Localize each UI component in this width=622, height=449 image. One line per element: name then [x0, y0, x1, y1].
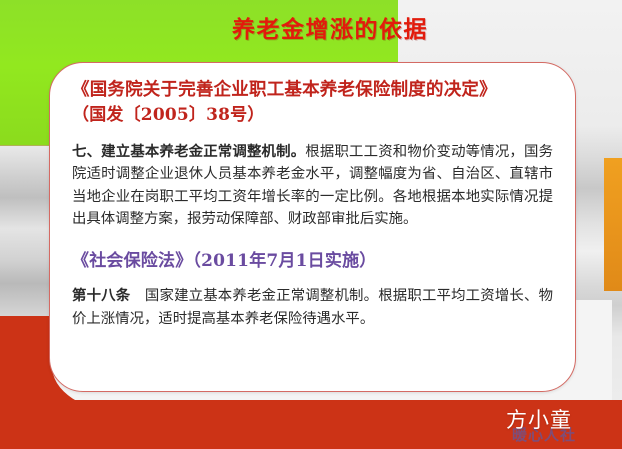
watermark-author-name: 方小童 — [506, 404, 572, 434]
regulation-title-main: 《国务院关于完善企业职工基本养老保险制度的决定》 — [72, 80, 497, 100]
page-title: 养老金增涨的依据 — [180, 10, 480, 44]
background-orange-accent-bar — [604, 158, 622, 291]
slide-root: 养老金增涨的依据 《国务院关于完善企业职工基本养老保险制度的决定》 （国发〔20… — [0, 0, 622, 449]
regulation-paragraph: 七、建立基本养老金正常调整机制。根据职工工资和物价变动等情况，国务院适时调整企业… — [72, 141, 553, 231]
regulation-paragraph-lead: 七、建立基本养老金正常调整机制。 — [72, 143, 305, 160]
regulation-title-heading: 《国务院关于完善企业职工基本养老保险制度的决定》 （国发〔2005〕38号） — [72, 79, 553, 127]
law-article-number: 第十八条 — [72, 287, 130, 304]
social-insurance-law-heading: 《社会保险法》（2011年7月1日实施） — [72, 246, 553, 271]
regulation-document-number: （国发〔2005〕38号） — [72, 104, 553, 127]
content-card-inner: 《国务院关于完善企业职工基本养老保险制度的决定》 （国发〔2005〕38号） 七… — [50, 63, 575, 340]
content-card: 《国务院关于完善企业职工基本养老保险制度的决定》 （国发〔2005〕38号） 七… — [49, 62, 576, 392]
law-article-paragraph: 第十八条 国家建立基本养老金正常调整机制。根据职工平均工资增长、物价上涨情况，适… — [72, 285, 553, 330]
law-article-body: 国家建立基本养老金正常调整机制。根据职工平均工资增长、物价上涨情况，适时提高基本… — [72, 288, 553, 326]
